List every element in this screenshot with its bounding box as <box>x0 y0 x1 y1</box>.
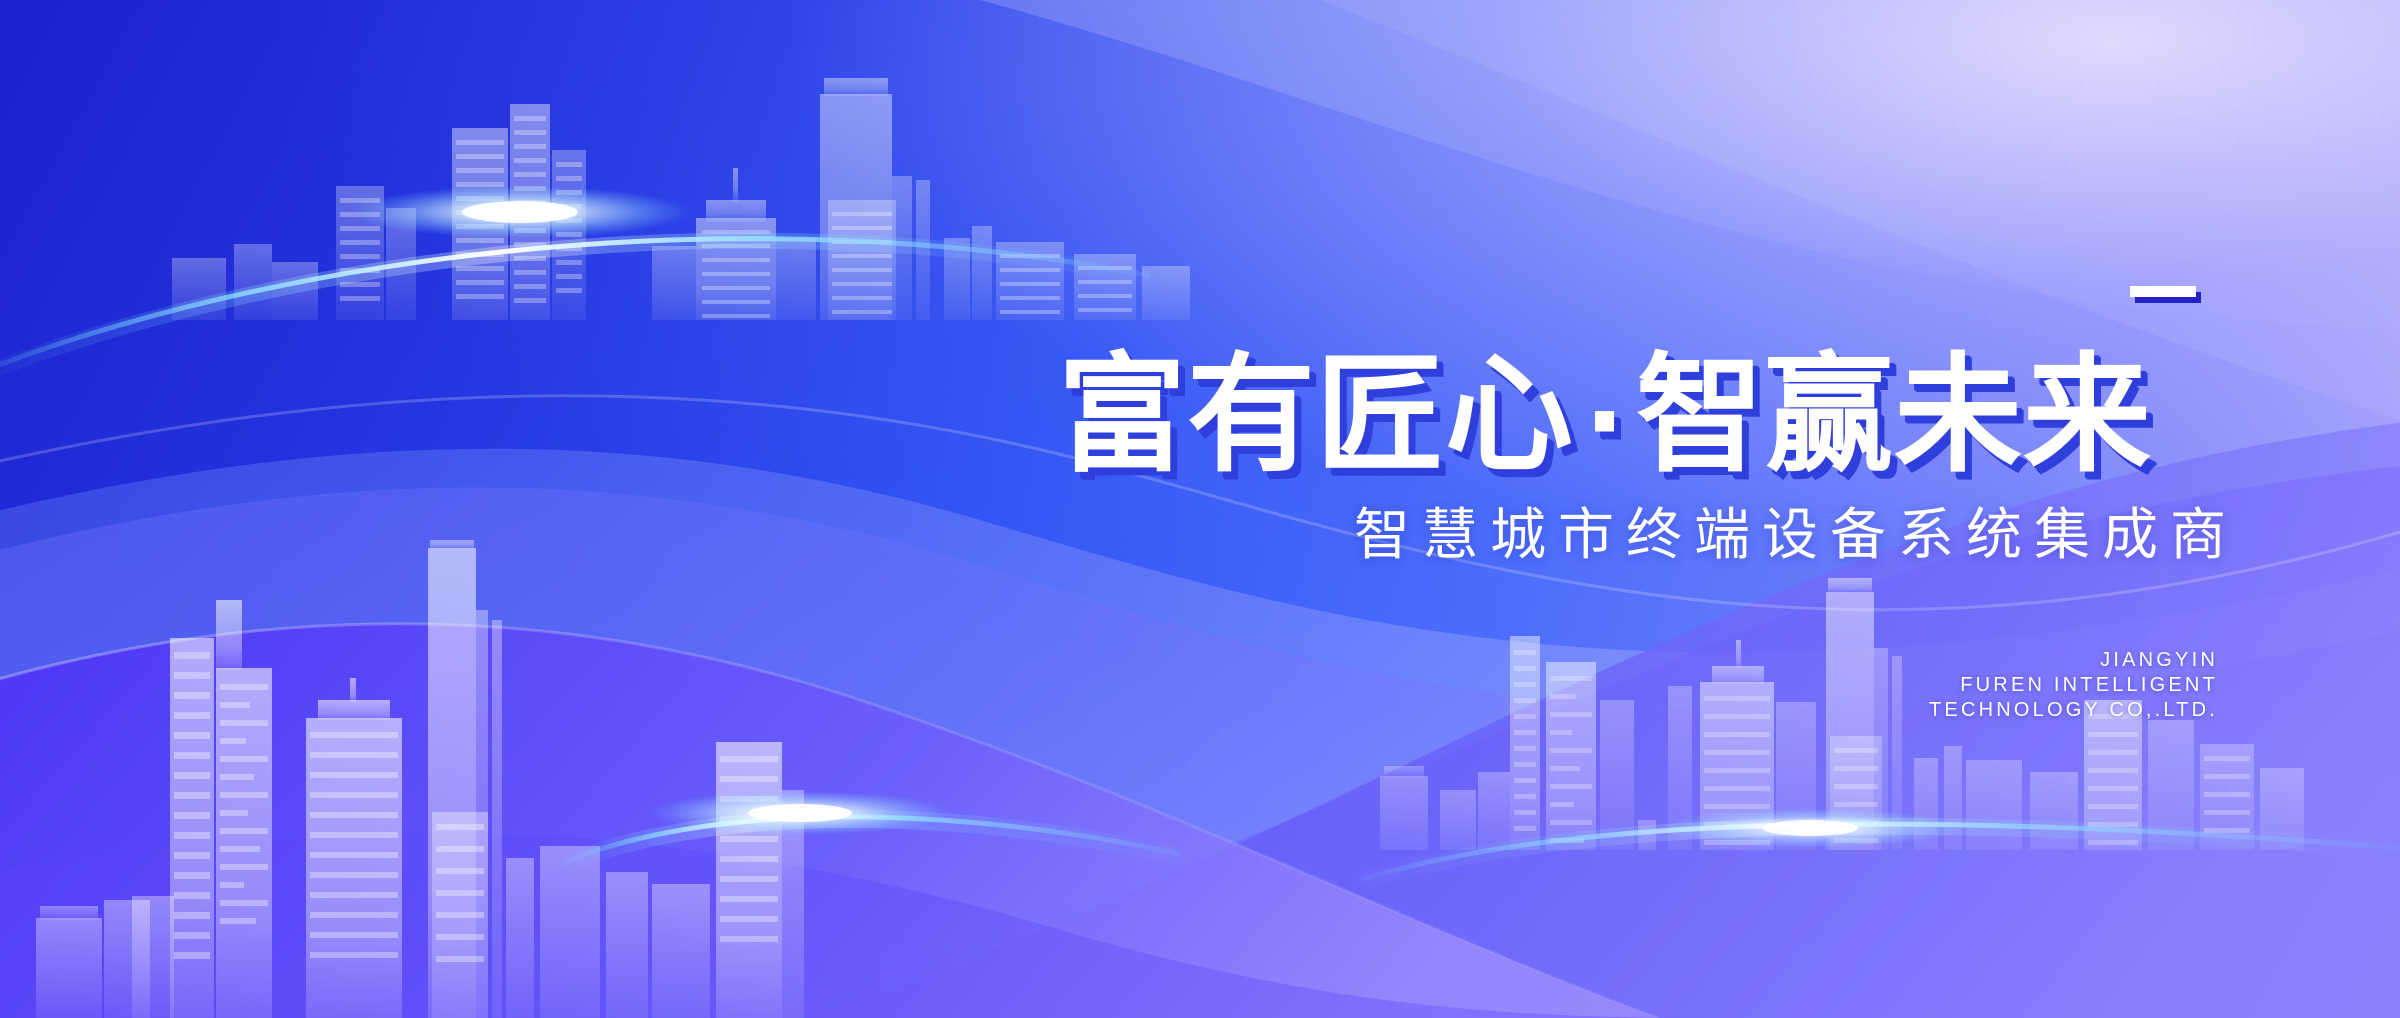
glow-hotspot-right-core <box>1762 820 1858 836</box>
glow-arc-right-layer <box>0 0 2400 1018</box>
banner-canvas: 富有匠心·智赢未来 智慧城市终端设备系统集成商 JIANGYIN FUREN I… <box>0 0 2400 1018</box>
